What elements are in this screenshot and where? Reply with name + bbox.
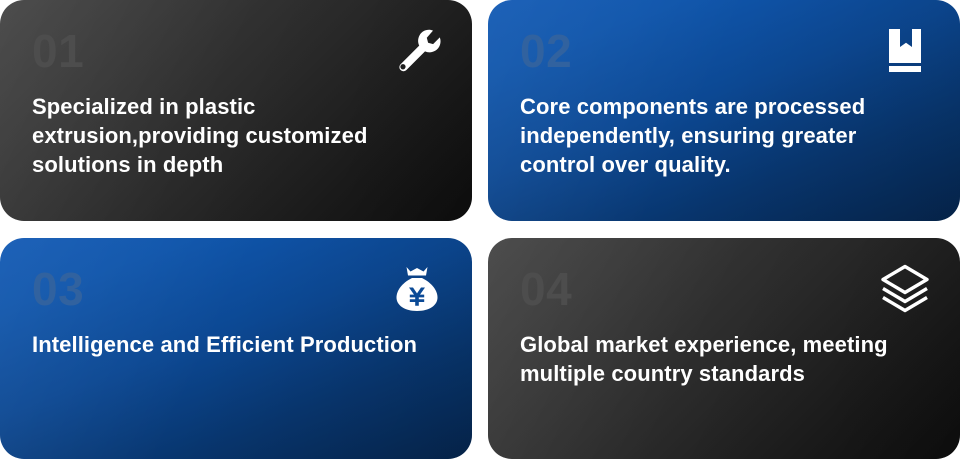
card-title: Core components are processed independen… — [520, 92, 932, 179]
card-number: 04 — [520, 266, 932, 312]
feature-card-grid: 01 Specialized in plastic extrusion,prov… — [0, 0, 960, 459]
card-number: 01 — [32, 28, 444, 74]
wrench-icon — [390, 24, 444, 78]
card-title: Specialized in plastic extrusion,providi… — [32, 92, 444, 179]
card-title: Intelligence and Efficient Production — [32, 330, 444, 359]
card-title: Global market experience, meeting multip… — [520, 330, 932, 388]
layers-stack-icon — [878, 262, 932, 316]
card-number: 03 — [32, 266, 444, 312]
card-number: 02 — [520, 28, 932, 74]
feature-card-03[interactable]: 03 Intelligence and Efficient Production — [0, 238, 472, 459]
feature-card-01[interactable]: 01 Specialized in plastic extrusion,prov… — [0, 0, 472, 221]
feature-card-04[interactable]: 04 Global market experience, meeting mul… — [488, 238, 960, 459]
book-bookmark-icon — [878, 24, 932, 78]
money-bag-yen-icon — [390, 262, 444, 316]
feature-card-02[interactable]: 02 Core components are processed indepen… — [488, 0, 960, 221]
